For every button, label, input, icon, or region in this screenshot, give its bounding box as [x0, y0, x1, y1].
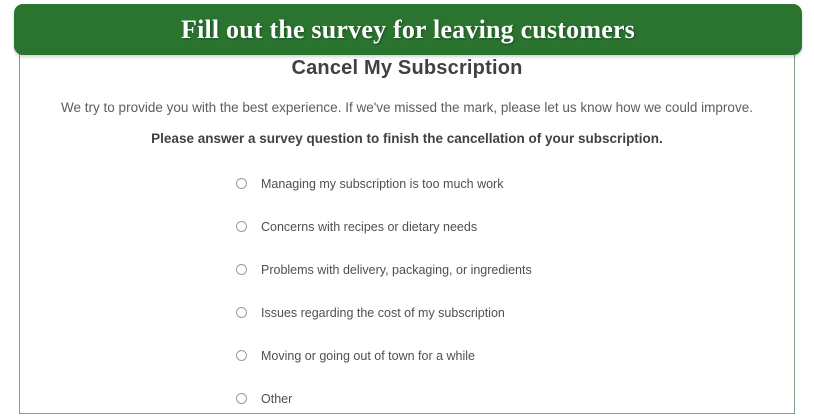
page-title: Cancel My Subscription — [20, 57, 794, 80]
radio-button-icon[interactable] — [236, 350, 247, 361]
radio-button-icon[interactable] — [236, 393, 247, 404]
intro-paragraph: We try to provide you with the best expe… — [20, 100, 794, 115]
survey-option-label: Moving or going out of town for a while — [261, 349, 475, 363]
radio-button-icon[interactable] — [236, 178, 247, 189]
radio-button-icon[interactable] — [236, 264, 247, 275]
survey-option-delivery-packaging[interactable]: Problems with delivery, packaging, or in… — [20, 248, 794, 291]
survey-option-label: Issues regarding the cost of my subscrip… — [261, 306, 505, 320]
radio-button-icon[interactable] — [236, 307, 247, 318]
radio-button-icon[interactable] — [236, 221, 247, 232]
instruction-paragraph: Please answer a survey question to finis… — [20, 131, 794, 146]
survey-option-label: Other — [261, 392, 292, 406]
survey-banner: Fill out the survey for leaving customer… — [14, 4, 802, 55]
survey-option-label: Concerns with recipes or dietary needs — [261, 220, 477, 234]
cancel-subscription-panel: Cancel My Subscription We try to provide… — [19, 30, 795, 414]
banner-title: Fill out the survey for leaving customer… — [181, 15, 635, 45]
survey-option-other[interactable]: Other — [20, 377, 794, 414]
survey-option-recipes-dietary[interactable]: Concerns with recipes or dietary needs — [20, 205, 794, 248]
survey-option-too-much-work[interactable]: Managing my subscription is too much wor… — [20, 162, 794, 205]
survey-option-moving[interactable]: Moving or going out of town for a while — [20, 334, 794, 377]
survey-option-cost[interactable]: Issues regarding the cost of my subscrip… — [20, 291, 794, 334]
survey-option-label: Problems with delivery, packaging, or in… — [261, 263, 532, 277]
survey-option-label: Managing my subscription is too much wor… — [261, 177, 503, 191]
survey-options-list: Managing my subscription is too much wor… — [20, 162, 794, 414]
